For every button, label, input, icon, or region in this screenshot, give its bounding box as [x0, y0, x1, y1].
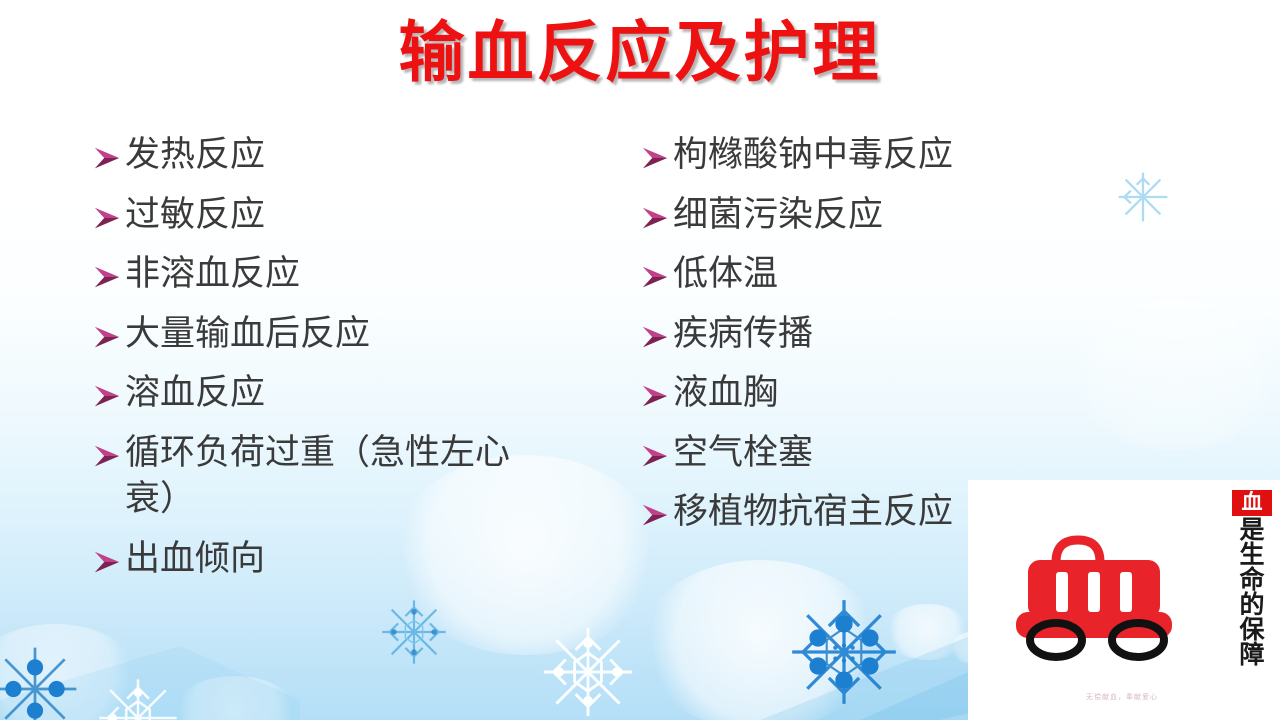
blood-donation-vehicle-icon [998, 516, 1198, 666]
bullet-item[interactable]: 低体温 [640, 251, 1200, 298]
bullet-item[interactable]: 溶血反应 [92, 370, 632, 417]
logo-slogan-char: 的 [1232, 592, 1272, 617]
arrow-bullet-icon [92, 322, 122, 352]
logo-slogan-char: 血 [1232, 490, 1272, 516]
bokeh-circle [0, 624, 140, 720]
bullet-label: 发热反应 [125, 132, 632, 179]
bullet-label: 低体温 [673, 251, 1200, 298]
logo-slogan-char: 是 [1232, 517, 1272, 542]
logo-caption: 无偿献血，奉献爱心 [968, 692, 1276, 702]
bullet-label: 枸橼酸钠中毒反应 [673, 132, 1200, 179]
arrow-bullet-icon [640, 143, 670, 173]
bullet-item[interactable]: 枸橼酸钠中毒反应 [640, 132, 1200, 179]
snowflake-icon [0, 644, 80, 720]
bullet-item[interactable]: 大量输血后反应 [92, 311, 632, 358]
bullet-item[interactable]: 非溶血反应 [92, 251, 632, 298]
bullet-label: 疾病传播 [673, 311, 1200, 358]
logo-slogan-char: 命 [1232, 567, 1272, 592]
bullet-label: 细菌污染反应 [673, 192, 1200, 239]
slide-title: 输血反应及护理 [0, 16, 1280, 90]
blood-donation-logo-image: 血 是 生 命 的 保 障 无偿献血，奉献爱心 [968, 480, 1280, 720]
logo-slogan-char: 障 [1232, 642, 1272, 667]
bullet-item[interactable]: 空气栓塞 [640, 430, 1200, 477]
arrow-bullet-icon [92, 547, 122, 577]
bullet-item[interactable]: 液血胸 [640, 370, 1200, 417]
arrow-bullet-icon [640, 500, 670, 530]
arrow-bullet-icon [92, 262, 122, 292]
bullet-label: 空气栓塞 [673, 430, 1200, 477]
bullet-label: 出血倾向 [125, 536, 632, 583]
bullet-label: 液血胸 [673, 370, 1200, 417]
bullet-item[interactable]: 细菌污染反应 [640, 192, 1200, 239]
snowflake-icon [96, 676, 180, 720]
bullet-item[interactable]: 疾病传播 [640, 311, 1200, 358]
arrow-bullet-icon [92, 203, 122, 233]
bokeh-circle [884, 604, 970, 660]
arrow-bullet-icon [640, 441, 670, 471]
arrow-bullet-icon [92, 143, 122, 173]
bokeh-circle [170, 676, 300, 720]
diagonal-band [0, 646, 300, 720]
arrow-bullet-icon [640, 203, 670, 233]
bullet-label: 大量输血后反应 [125, 311, 632, 358]
bullet-label: 过敏反应 [125, 192, 632, 239]
snowflake-icon [540, 624, 636, 720]
logo-vertical-slogan: 血 是 生 命 的 保 障 [1232, 490, 1272, 667]
bokeh-circle [640, 560, 880, 720]
bullet-label: 循环负荷过重（急性左心衰） [125, 430, 512, 523]
snowflake-icon [790, 598, 898, 706]
bullet-item[interactable]: 循环负荷过重（急性左心衰） [92, 430, 512, 523]
arrow-bullet-icon [640, 262, 670, 292]
arrow-bullet-icon [92, 441, 122, 471]
arrow-bullet-icon [92, 381, 122, 411]
snowflake-icon [378, 596, 450, 668]
logo-slogan-char: 保 [1232, 617, 1272, 642]
bullet-column-left: 发热反应 过敏反应 非溶血反应 大量输血后反应 [92, 132, 632, 595]
logo-slogan-char: 生 [1232, 542, 1272, 567]
slide-canvas: 输血反应及护理 发热反应 过敏反应 非溶血反应 [0, 0, 1280, 720]
bullet-label: 溶血反应 [125, 370, 632, 417]
arrow-bullet-icon [640, 322, 670, 352]
bullet-item[interactable]: 过敏反应 [92, 192, 632, 239]
bullet-item[interactable]: 出血倾向 [92, 536, 632, 583]
bullet-item[interactable]: 发热反应 [92, 132, 632, 179]
bullet-label: 非溶血反应 [125, 251, 632, 298]
arrow-bullet-icon [640, 381, 670, 411]
